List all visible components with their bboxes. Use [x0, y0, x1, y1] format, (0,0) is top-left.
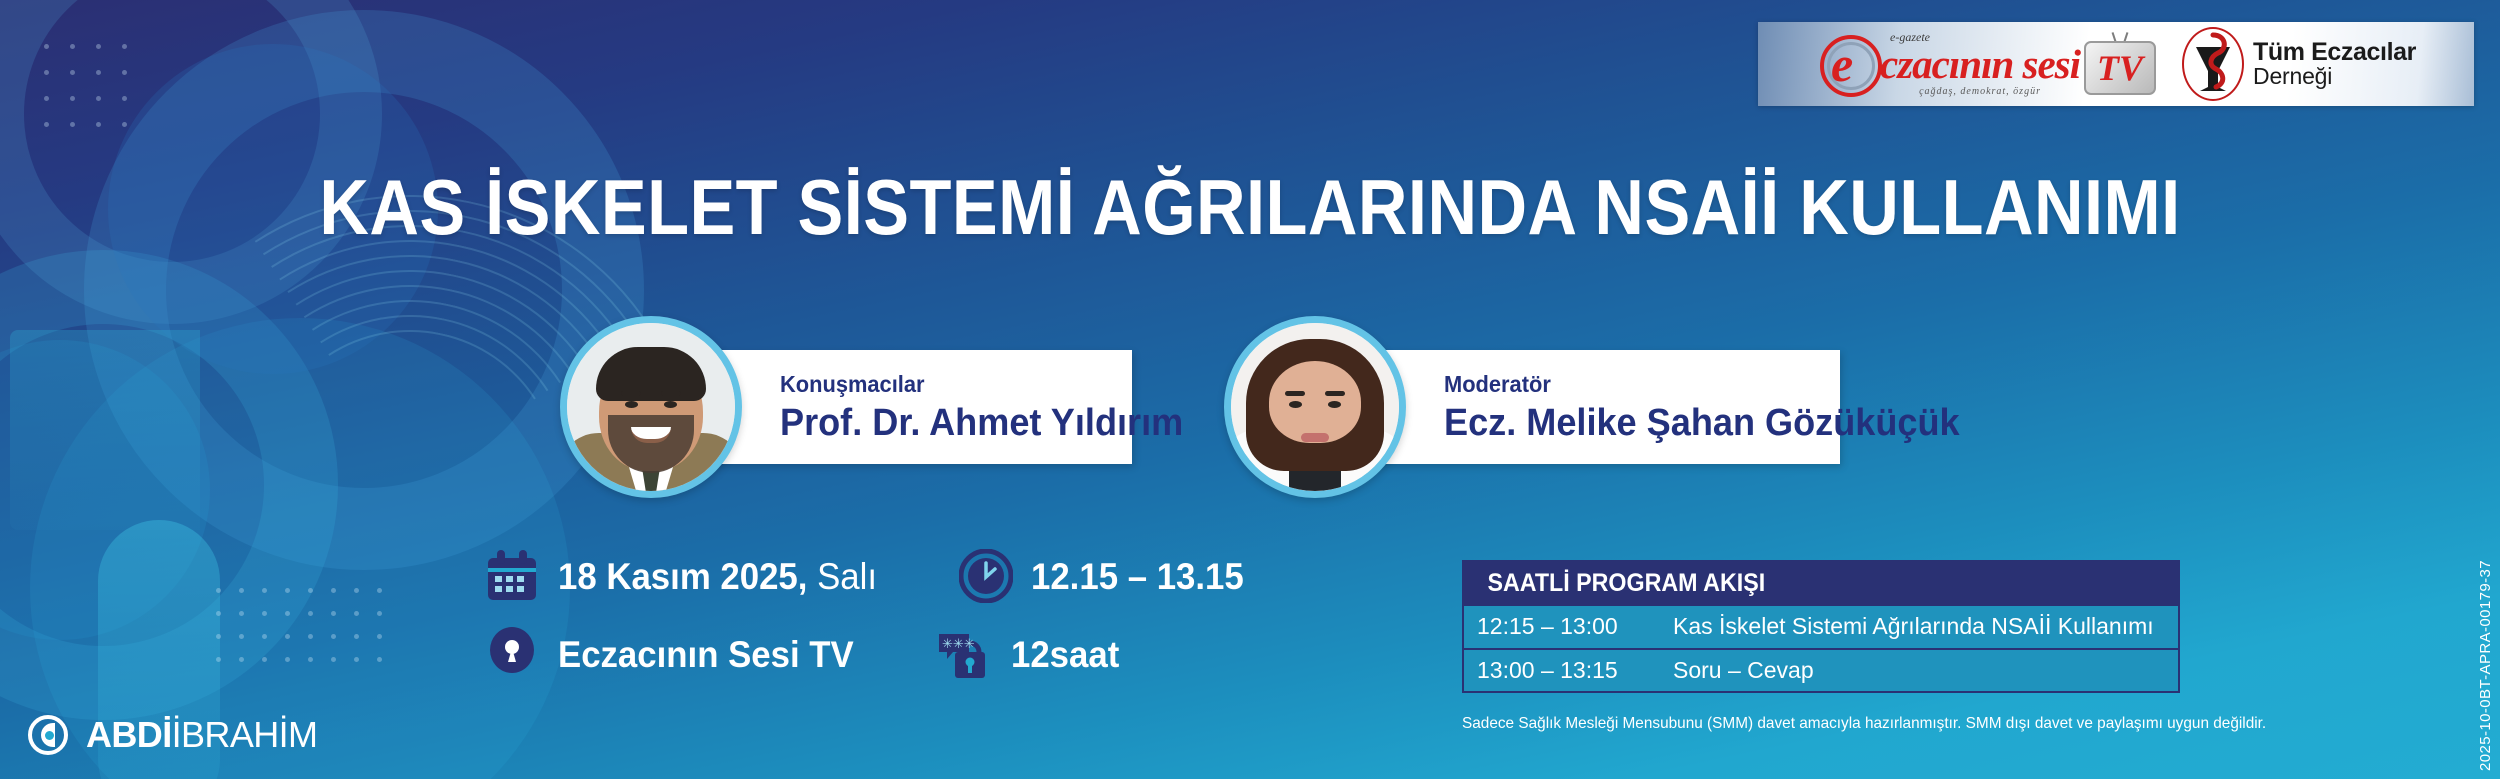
avatar-speaker-2: [1224, 316, 1406, 498]
deco-ring-3: [0, 250, 338, 720]
event-date-item: 18 Kasım 2025, Salı: [484, 548, 897, 604]
tum-eczacilar-dernegi-logo: Tüm Eczacılar Derneği: [2182, 27, 2416, 101]
event-details-row-2: Eczacının Sesi TV ✳✳✳ 12saat: [484, 626, 1258, 682]
table-row: 13:00 – 13:15 Soru – Cevap: [1464, 648, 2178, 692]
speaker-info-card-2: Moderatör Ecz. Melike Şahan Gözüküçük: [1360, 350, 1840, 464]
program-row-time: 13:00 – 13:15: [1477, 657, 1645, 685]
approval-code: 2025-10-0BT-APRA-00179-37: [2477, 560, 2494, 771]
event-details: 18 Kasım 2025, Salı 12.15 – 13.15: [484, 548, 1258, 682]
ted-line-1: Tüm Eczacılar: [2253, 39, 2416, 65]
ted-line-2: Derneği: [2253, 65, 2416, 89]
speakers-section: Konuşmacılar Prof. Dr. Ahmet Yıldırım M: [560, 316, 1840, 498]
e-circle-icon: e: [1820, 35, 1882, 97]
abdi-ibrahim-mark-icon: [28, 715, 68, 755]
speaker-info-card-1: Konuşmacılar Prof. Dr. Ahmet Yıldırım: [696, 350, 1132, 464]
tv-icon: TV: [2084, 35, 2156, 95]
disclaimer-text: Sadece Sağlık Mesleği Mensubunu (SMM) da…: [1462, 714, 2384, 733]
sponsor-logo: ABDİİBRAHİM: [28, 715, 317, 755]
speaker-name-1: Prof. Dr. Ahmet Yıldırım: [780, 404, 1088, 442]
program-row-topic: Soru – Cevap: [1673, 657, 2165, 685]
sponsor-name: ABDİİBRAHİM: [86, 717, 317, 753]
partner-logo-strip: e e-gazete czacının sesi çağdaş, demokra…: [1758, 22, 2474, 106]
event-title: KAS İSKELET SİSTEMİ AĞRILARINDA NSAİİ KU…: [150, 168, 2350, 246]
speaker-card-1: Konuşmacılar Prof. Dr. Ahmet Yıldırım: [560, 316, 1132, 498]
password-lock-icon: ✳✳✳: [935, 626, 993, 682]
avatar-speaker-1: [560, 316, 742, 498]
deco-dot-grid-bottom: [216, 588, 382, 662]
webinar-banner: e e-gazete czacının sesi çağdaş, demokra…: [0, 0, 2500, 779]
location-pin-icon: [484, 626, 540, 682]
event-time-text: 12.15 – 13.15: [1031, 558, 1244, 595]
event-date-text: 18 Kasım 2025, Salı: [558, 558, 877, 595]
event-credit-item: ✳✳✳ 12saat: [935, 626, 1126, 682]
calendar-icon: [484, 548, 540, 604]
event-place-item: Eczacının Sesi TV: [484, 626, 873, 682]
table-row: 12:15 – 13:00 Kas İskelet Sistemi Ağrıla…: [1464, 604, 2178, 648]
ecz-logo-letter: e: [1831, 39, 1853, 89]
program-row-time: 12:15 – 13:00: [1477, 613, 1645, 641]
speaker-role-2: Moderatör: [1444, 373, 1794, 396]
speaker-name-2: Ecz. Melike Şahan Gözüküçük: [1444, 404, 1794, 442]
clock-icon: [959, 549, 1013, 603]
program-row-topic: Kas İskelet Sistemi Ağrılarında NSAİİ Ku…: [1673, 613, 2165, 641]
program-table-header: SAATLİ PROGRAM AKIŞI: [1464, 562, 2178, 604]
tv-label: TV: [2097, 50, 2143, 86]
event-time-item: 12.15 – 13.15: [959, 549, 1257, 603]
eczacinin-sesi-tv-logo: e e-gazete czacının sesi çağdaş, demokra…: [1816, 31, 2156, 97]
deco-square: [10, 330, 200, 530]
ecz-logo-main-text: czacının sesi: [1880, 44, 2080, 85]
program-schedule-table: SAATLİ PROGRAM AKIŞI 12:15 – 13:00 Kas İ…: [1462, 560, 2180, 693]
deco-disc-b: [0, 340, 210, 640]
mortar-serpent-icon: [2182, 27, 2244, 101]
deco-ring-1: [0, 0, 382, 324]
event-credit-text: 12saat: [1011, 636, 1119, 673]
event-details-row-1: 18 Kasım 2025, Salı 12.15 – 13.15: [484, 548, 1258, 604]
svg-text:✳✳✳: ✳✳✳: [942, 636, 975, 651]
deco-dot-grid-top: [44, 44, 127, 127]
event-place-text: Eczacının Sesi TV: [558, 636, 854, 673]
speaker-card-2: Moderatör Ecz. Melike Şahan Gözüküçük: [1224, 316, 1840, 498]
ecz-logo-tagline: çağdaş, demokrat, özgür: [1880, 87, 2080, 97]
speaker-role-1: Konuşmacılar: [780, 373, 1088, 396]
